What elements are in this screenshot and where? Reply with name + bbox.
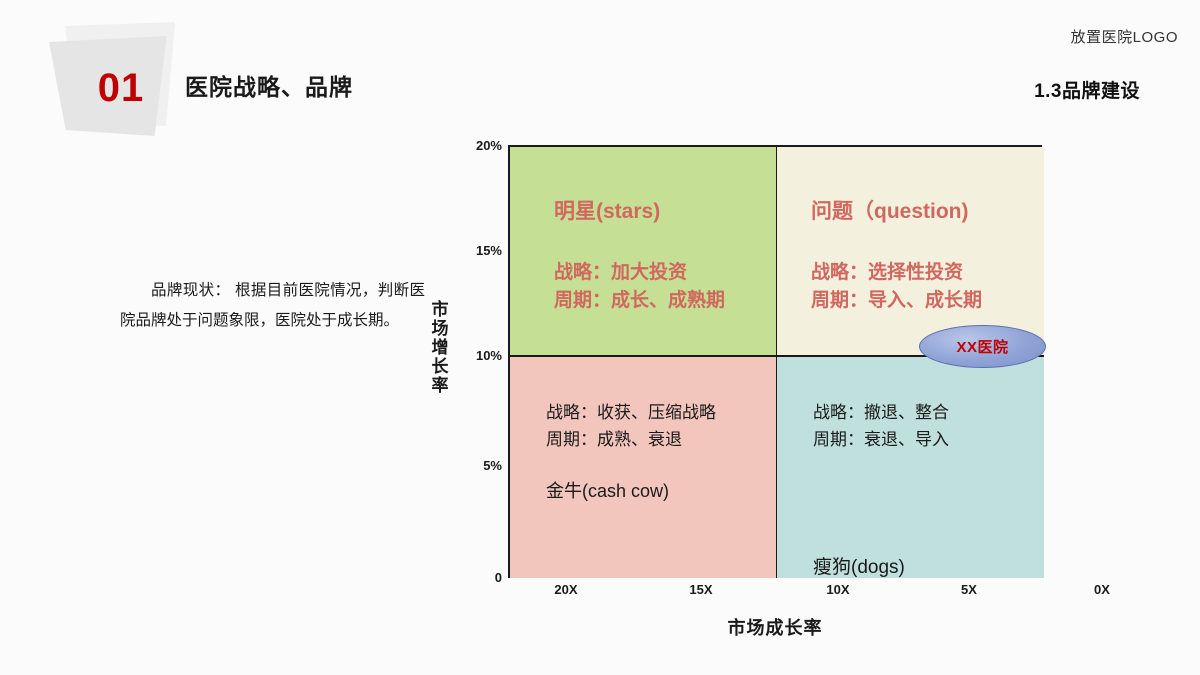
quadrant-question-strategy: 战略：选择性投资: [811, 259, 1036, 287]
x-tick-0x: 0X: [1094, 582, 1110, 597]
quadrant-dogs[interactable]: 战略：撤退、整合 周期：衰退、导入 瘦狗(dogs): [777, 357, 1044, 578]
quadrant-stars-cycle: 周期：成长、成熟期: [554, 287, 769, 315]
slide-subtitle: 1.3品牌建设: [1034, 76, 1140, 103]
y-tick-0: 0: [446, 570, 502, 585]
quadrant-question-cycle: 周期：导入、成长期: [811, 287, 1036, 315]
x-axis-title: 市场成长率: [508, 614, 1042, 640]
y-axis-ticks: 20% 15% 10% 5% 0: [438, 130, 502, 590]
quadrant-cash-cow-title: 金牛(cash cow): [546, 477, 669, 503]
quadrant-question-content: 问题（question) 战略：选择性投资 周期：导入、成长期: [777, 147, 1044, 355]
quadrant-stars-body: 战略：加大投资 周期：成长、成熟期: [554, 259, 769, 315]
y-tick-20: 20%: [446, 138, 502, 153]
narrative-text: 品牌现状： 根据目前医院情况，判断医院品牌处于问题象限，医院处于成长期。: [120, 276, 425, 336]
quadrant-cash-cow[interactable]: 战略：收获、压缩战略 周期：成熟、衰退 金牛(cash cow): [510, 357, 777, 578]
x-tick-5x: 5X: [961, 582, 977, 597]
hospital-marker-ellipse[interactable]: XX医院: [919, 325, 1046, 368]
section-number: 01: [73, 66, 169, 111]
quadrant-dogs-content: 战略：撤退、整合 周期：衰退、导入 瘦狗(dogs): [777, 357, 1044, 578]
hospital-marker-label: XX医院: [956, 336, 1008, 357]
x-tick-15x: 15X: [689, 582, 712, 597]
matrix-plot-area: 明星(stars) 战略：加大投资 周期：成长、成熟期 问题（question)…: [508, 145, 1042, 578]
quadrant-cash-cow-cycle: 周期：成熟、衰退: [546, 426, 771, 453]
y-tick-10: 10%: [446, 348, 502, 363]
x-axis-ticks: 20X 15X 10X 5X 0X: [508, 582, 1048, 606]
page-title: 医院战略、品牌: [185, 68, 353, 102]
y-tick-5: 5%: [446, 458, 502, 473]
quadrant-cash-cow-body: 战略：收获、压缩战略 周期：成熟、衰退: [546, 399, 771, 453]
quadrant-stars-title: 明星(stars): [554, 195, 660, 225]
quadrant-dogs-cycle: 周期：衰退、导入: [813, 426, 1008, 453]
x-tick-20x: 20X: [554, 582, 577, 597]
quadrant-dogs-title: 瘦狗(dogs): [813, 552, 905, 578]
quadrant-stars-strategy: 战略：加大投资: [554, 259, 769, 287]
bcg-matrix-chart: 市场增长率 20% 15% 10% 5% 0 明星(stars) 战略：加大投资…: [430, 130, 1110, 650]
slide-header: 01 医院战略、品牌 放置医院LOGO 1.3品牌建设: [0, 0, 1200, 130]
x-tick-10x: 10X: [826, 582, 849, 597]
quadrant-dogs-strategy: 战略：撤退、整合: [813, 399, 1008, 426]
quadrant-stars-content: 明星(stars) 战略：加大投资 周期：成长、成熟期: [510, 147, 776, 355]
section-badge: 01: [45, 22, 190, 137]
quadrant-cash-cow-content: 战略：收获、压缩战略 周期：成熟、衰退 金牛(cash cow): [510, 357, 776, 578]
quadrant-cash-cow-strategy: 战略：收获、压缩战略: [546, 399, 771, 426]
quadrant-dogs-body: 战略：撤退、整合 周期：衰退、导入: [813, 399, 1008, 453]
y-tick-15: 15%: [446, 243, 502, 258]
quadrant-question-body: 战略：选择性投资 周期：导入、成长期: [811, 259, 1036, 315]
logo-placeholder: 放置医院LOGO: [1071, 26, 1178, 47]
quadrant-stars[interactable]: 明星(stars) 战略：加大投资 周期：成长、成熟期: [510, 147, 777, 357]
quadrant-question-title: 问题（question): [811, 195, 969, 225]
